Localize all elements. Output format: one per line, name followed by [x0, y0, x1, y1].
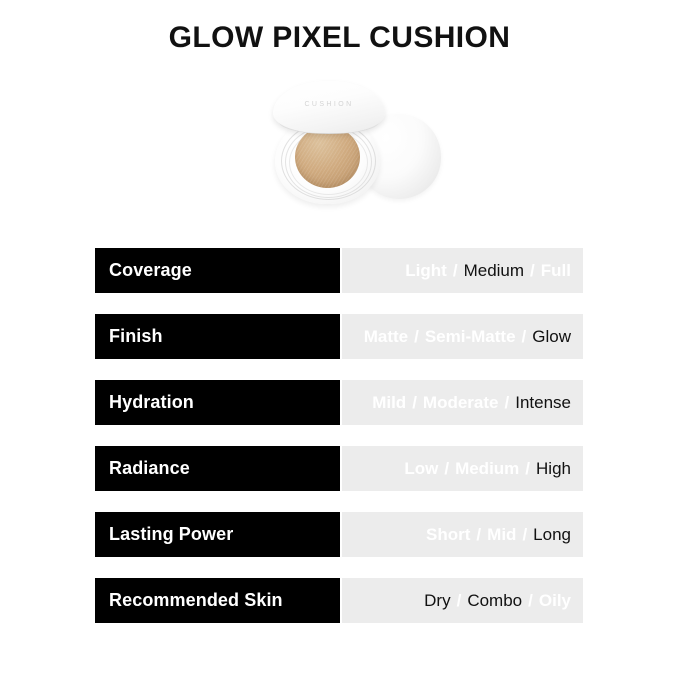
spec-option-selected[interactable]: Intense: [515, 393, 571, 413]
spec-row-label: Radiance: [95, 446, 340, 491]
spec-option[interactable]: Matte: [364, 327, 408, 347]
option-separator: /: [453, 261, 458, 281]
spec-option[interactable]: Moderate: [423, 393, 499, 413]
spec-row-options: Short/Mid/Long: [342, 512, 583, 557]
option-separator: /: [528, 591, 533, 611]
spec-option-selected[interactable]: Combo: [467, 591, 522, 611]
spec-option-selected[interactable]: Long: [533, 525, 571, 545]
option-separator: /: [476, 525, 481, 545]
option-separator: /: [530, 261, 535, 281]
spec-row: Lasting PowerShort/Mid/Long: [95, 512, 583, 557]
spec-row: HydrationMild/Moderate/Intense: [95, 380, 583, 425]
option-separator: /: [457, 591, 462, 611]
option-separator: /: [522, 525, 527, 545]
spec-row-label: Finish: [95, 314, 340, 359]
spec-row-label: Recommended Skin: [95, 578, 340, 623]
spec-row: CoverageLight/Medium/Full: [95, 248, 583, 293]
spec-row-options: Light/Medium/Full: [342, 248, 583, 293]
spec-row-label: Coverage: [95, 248, 340, 293]
spec-option-selected[interactable]: Medium: [464, 261, 524, 281]
cushion-pan: [295, 126, 360, 188]
spec-option[interactable]: Low: [404, 459, 438, 479]
spec-option[interactable]: Light: [405, 261, 447, 281]
spec-option-selected[interactable]: Dry: [424, 591, 450, 611]
option-separator: /: [505, 393, 510, 413]
spec-row-options: Mild/Moderate/Intense: [342, 380, 583, 425]
spec-option[interactable]: Mild: [372, 393, 406, 413]
spec-row: Recommended SkinDry/Combo/Oily: [95, 578, 583, 623]
spec-option[interactable]: Full: [541, 261, 571, 281]
spec-option[interactable]: Mid: [487, 525, 516, 545]
option-separator: /: [412, 393, 417, 413]
spec-option[interactable]: Semi-Matte: [425, 327, 516, 347]
spec-row: RadianceLow/Medium/High: [95, 446, 583, 491]
page-title: GLOW PIXEL CUSHION: [0, 18, 679, 58]
option-separator: /: [525, 459, 530, 479]
spec-option-selected[interactable]: High: [536, 459, 571, 479]
spec-option[interactable]: Short: [426, 525, 470, 545]
option-separator: /: [444, 459, 449, 479]
spec-option[interactable]: Oily: [539, 591, 571, 611]
spec-table: CoverageLight/Medium/FullFinishMatte/Sem…: [95, 248, 583, 623]
spec-row-options: Matte/Semi-Matte/Glow: [342, 314, 583, 359]
spec-row-options: Dry/Combo/Oily: [342, 578, 583, 623]
option-separator: /: [414, 327, 419, 347]
spec-row: FinishMatte/Semi-Matte/Glow: [95, 314, 583, 359]
compact-lid: CUSHION: [273, 81, 385, 133]
spec-option[interactable]: Medium: [455, 459, 519, 479]
product-hero-image: CUSHION: [245, 78, 455, 218]
spec-row-label: Lasting Power: [95, 512, 340, 557]
spec-row-label: Hydration: [95, 380, 340, 425]
spec-option-selected[interactable]: Glow: [532, 327, 571, 347]
option-separator: /: [522, 327, 527, 347]
spec-row-options: Low/Medium/High: [342, 446, 583, 491]
lid-emboss-text: CUSHION: [304, 101, 353, 108]
